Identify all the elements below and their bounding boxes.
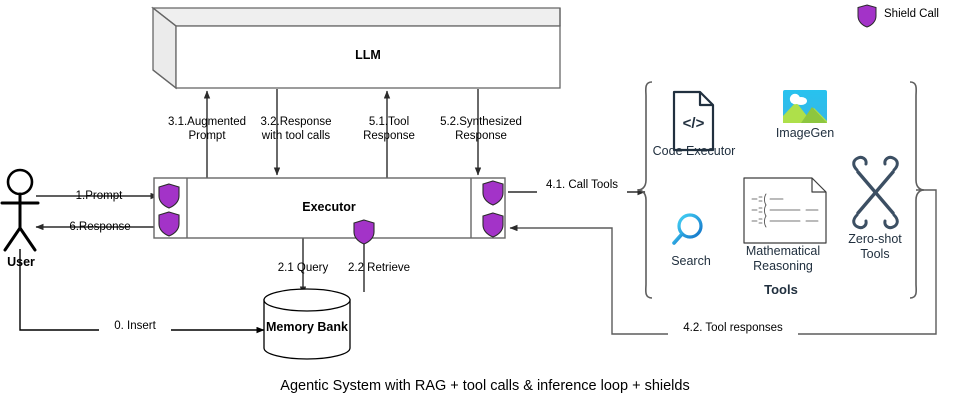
magnifier-icon-shape — [674, 215, 701, 243]
user-label: User — [0, 255, 42, 269]
shield-icon — [352, 219, 376, 245]
edge-label-synthesized-response: 5.2.Synthesized Response — [425, 116, 537, 143]
crossed-wrenches-icon-shape — [854, 157, 898, 227]
tool-label-imagegen: ImageGen — [763, 126, 847, 141]
tool-label-mathematical-reasoning: Mathematical Reasoning — [727, 244, 839, 274]
memory-bank-label: Memory Bank — [257, 320, 357, 334]
edge-label-retrieve: 2.2 Retrieve — [335, 262, 423, 276]
diagram-caption: Agentic System with RAG + tool calls & i… — [0, 378, 970, 394]
shield-icon — [481, 212, 505, 238]
code-document-icon-shape: </> — [674, 92, 713, 150]
shield-icon — [157, 183, 181, 209]
tool-label-zero-shot-tools: Zero-shot Tools — [840, 232, 910, 262]
legend-shield-icon — [856, 4, 878, 28]
diagram-canvas: </> — [0, 0, 970, 411]
user-figure-shape — [2, 170, 38, 250]
legend-label: Shield Call — [884, 8, 939, 20]
svg-text:</>: </> — [683, 115, 705, 132]
shield-icon — [157, 211, 181, 237]
image-picture-icon-shape — [783, 90, 827, 123]
edge-label-query: 2.1 Query — [265, 262, 341, 276]
tool-label-code-executor: Code Executor — [644, 144, 744, 159]
edge-label-call-tools: 4.1. Call Tools — [537, 179, 627, 193]
edge-label-tool-responses: 4.2. Tool responses — [668, 322, 798, 336]
llm-node-label: LLM — [176, 48, 560, 62]
tool-label-search: Search — [658, 254, 724, 269]
formula-document-icon-shape — [744, 178, 826, 243]
shield-icon — [481, 180, 505, 206]
edge-label-prompt: 1.Prompt — [62, 190, 136, 204]
edge-label-insert: 0. Insert — [99, 320, 171, 334]
edge-label-tool-response: 5.1.Tool Response — [345, 116, 433, 143]
edge-label-response: 6.Response — [58, 221, 142, 235]
tools-group-label: Tools — [716, 282, 846, 297]
edge-label-response-tool-calls: 3.2.Response with tool calls — [236, 116, 356, 143]
executor-node-label: Executor — [187, 200, 471, 214]
